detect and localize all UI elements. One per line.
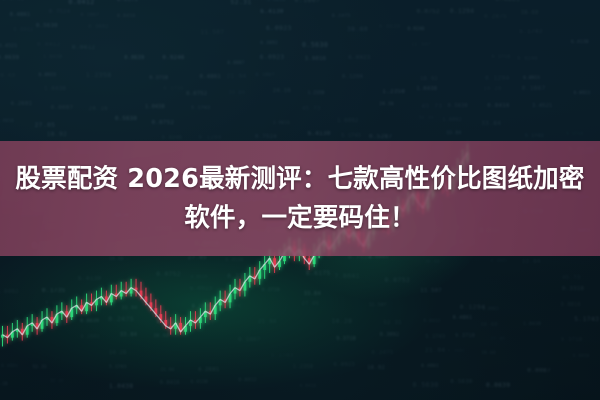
ticker-value: 6.0923 [574,90,591,95]
ticker-value: 0.7524 [49,9,71,15]
ticker-value: 45.73 [302,106,321,112]
ticker-value: 2.0865 [482,306,499,311]
title-line-1: 股票配资 2026最新测评：七款高性价比图纸加密 [15,161,584,197]
ticker-value: 0.1294 [450,8,474,15]
ticker-value: 3.9016 [561,302,581,308]
ticker-value: 0.9246 [163,55,185,61]
title-line-2: 软件，一定要码住！ [184,200,415,236]
ticker-value: 0.8416 [117,14,136,19]
ticker-value: 0.8416 [487,103,510,109]
ticker-value: 21.94 [35,0,57,1]
ticker-value: 9.3718 [149,76,168,81]
ticker-value: 6.4130 [191,379,209,384]
ticker-value: 0.3092 [88,24,109,30]
ticker-value: 9.3718 [561,337,583,343]
ticker-value: 0.0639 [124,55,144,61]
ticker-value: 1.0438 [43,55,62,60]
ticker-value: 4.2601 [10,101,32,107]
ticker-value: 38.60 [481,350,496,355]
ticker-value: 1.0438 [145,105,165,110]
ticker-value: 27.05 [490,337,505,342]
ticker-value: 0.4861 [10,12,31,18]
ticker-value: 0.1294 [342,74,363,80]
ticker-value: 1.0438 [523,322,541,327]
ticker-value: 8.6175 [117,0,138,3]
ticker-value: 3.9016 [267,0,286,3]
ticker-value: 6.0923 [348,55,370,61]
ticker-value: 0.3092 [260,41,278,46]
ticker-value: 0.5630 [302,41,328,49]
ticker-value: 11.507 [200,29,224,36]
ticker-value: 0.0412 [37,42,61,48]
ticker-value: 24.16 [273,88,291,94]
ticker-value: 11.507 [411,42,431,48]
ticker-value: 0.2475 [484,14,507,20]
ticker-value: 1.0438 [417,86,438,92]
ticker-value: 0.4861 [200,74,222,80]
ticker-value: 0.0412 [14,27,34,33]
ticker-value: 0.0087 [51,105,74,111]
ticker-value: 5.1743 [574,316,599,323]
ticker-value: 1.2358 [86,71,112,79]
ticker-value: 1.2358 [382,89,405,95]
ticker-value: 24.16 [379,101,394,106]
ticker-value: 0.0087 [527,368,551,374]
ticker-value: 0.3092 [491,258,508,263]
ticker-value: 14.28 [483,86,502,92]
ticker-value: 0.8416 [573,353,590,358]
ticker-value: 0.1867 [294,0,320,4]
ticker-value: 24.16 [0,381,8,386]
ticker-value: 45.73 [421,102,442,110]
ticker-value: 0.0752 [186,91,207,97]
ticker-value: 0.1294 [485,75,510,82]
ticker-value: 9.3718 [566,131,584,136]
ticker-value: 33.84 [481,120,501,127]
ticker-value: 0.5630 [413,381,439,389]
ticker-value: 1.0438 [44,86,66,92]
ticker-value: 45.73 [562,275,581,281]
ticker-value: 6.4130 [260,9,283,15]
ticker-value: 9.3718 [491,55,510,60]
ticker-value: 5.1743 [191,106,210,111]
ticker-value: 0.0412 [238,378,257,383]
ticker-value: 3.4521 [0,44,17,49]
ticker-value: 0.9246 [517,56,538,62]
ticker-value: 0.8416 [300,383,317,388]
ticker-value: 0.4861 [495,0,520,3]
ticker-value: 38.60 [480,322,498,328]
ticker-value: 33.84 [229,91,245,96]
ticker-value: 0.1867 [256,73,275,78]
ticker-value: 1.0438 [109,383,133,390]
banner-image: 0.075221.940.04128.61752.845052.313.9016… [0,0,600,400]
ticker-value: 5.1743 [519,29,543,35]
ticker-value: 0.2475 [332,14,351,19]
ticker-value: 38.60 [521,10,539,16]
ticker-value: 0.8416 [160,380,180,386]
ticker-value: 24.16 [88,106,108,112]
ticker-value: 3.4521 [532,103,552,109]
banner-title: 股票配资 2026最新测评：七款高性价比图纸加密 软件，一定要码住！ [0,141,600,256]
ticker-value: 6.4130 [571,40,589,45]
ticker-value: 6.0923 [523,75,540,80]
ticker-value: 0.1867 [522,85,546,92]
ticker-value: 0.5630 [448,103,468,109]
ticker-value: 0.5630 [450,379,472,385]
ticker-value: 33.84 [521,259,540,265]
ticker-value: 0.0639 [379,24,401,30]
ticker-value: 38.60 [347,25,368,33]
ticker-value: 0.0752 [417,9,440,15]
ticker-value: 0.1735 [163,86,184,92]
ticker-value: 52.31 [50,378,64,383]
ticker-value: 38.60 [0,73,16,79]
ticker-value: 0.0639 [0,55,19,61]
ticker-value: 18.92 [420,76,438,82]
ticker-value: 6.0923 [260,54,285,61]
ticker-value: 6.0923 [266,24,292,32]
ticker-value: 0.0639 [486,382,510,389]
ticker-value: 3.9016 [305,56,327,62]
ticker-value: 1.2358 [308,90,325,95]
ticker-value: 0.0087 [227,60,245,65]
ticker-value: 0.5630 [36,23,58,29]
ticker-value: 0.9246 [408,26,425,31]
ticker-value: 0.1867 [80,13,99,18]
ticker-value: 52.31 [230,0,251,6]
ticker-value: 5.1743 [525,134,544,139]
ticker-value: 21.94 [227,73,247,80]
ticker-value: 0.0412 [68,0,94,6]
ticker-value: 6.0923 [39,72,57,77]
ticker-value: 0.0752 [2,0,25,2]
ticker-value: 0.0412 [72,45,96,51]
ticker-value: 0.3318 [562,286,584,292]
